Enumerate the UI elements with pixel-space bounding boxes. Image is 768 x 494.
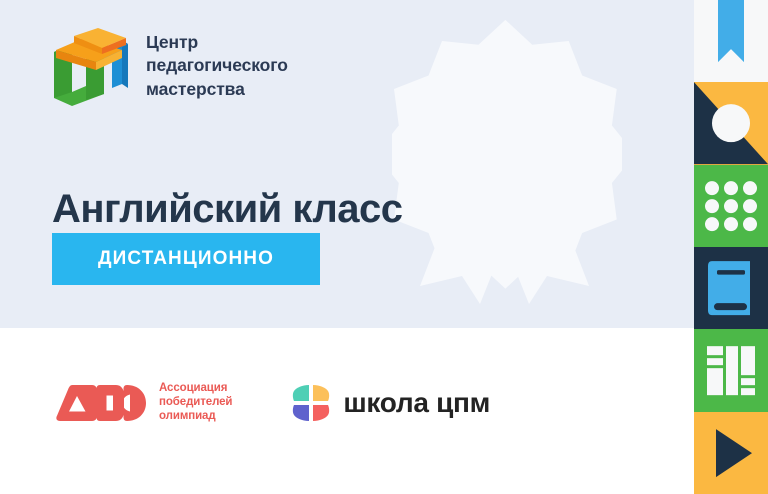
cpm-isometric-cube-logo (52, 26, 130, 106)
layout-blocks-icon (694, 329, 768, 411)
footer-section: Ассоциация победителей олимпиад школа цп… (0, 328, 694, 494)
strip-tile-book[interactable] (694, 247, 768, 329)
page-title: Английский класс (52, 187, 403, 231)
partner-apo-name: Ассоциация победителей олимпиад (159, 382, 232, 423)
promo-banner: Центр педагогического мастерства Английс… (0, 0, 768, 494)
award-rosette-icon (392, 14, 622, 314)
brand-name: Центр педагогического мастерства (146, 31, 288, 101)
partner-shkola-name: школа цпм (343, 387, 490, 419)
strip-tile-medal[interactable] (694, 82, 768, 164)
strip-tile-bookmark[interactable] (694, 0, 768, 82)
icon-strip (694, 0, 768, 494)
strip-tile-play[interactable] (694, 412, 768, 494)
partner-apo[interactable]: Ассоциация победителей олимпиад (56, 380, 232, 426)
partner-logos: Ассоциация победителей олимпиад школа цп… (56, 380, 490, 426)
strip-tile-layout[interactable] (694, 329, 768, 411)
pinwheel-logo (290, 382, 332, 424)
partner-shkola-cpm[interactable]: школа цпм (290, 382, 490, 424)
hero-section: Центр педагогического мастерства Английс… (0, 0, 694, 328)
format-badge[interactable]: Дистанционно (52, 233, 320, 285)
brand-lockup: Центр педагогического мастерства (52, 26, 288, 106)
play-icon (694, 412, 768, 494)
bookmark-icon (694, 0, 768, 82)
dot-grid-icon (694, 165, 768, 247)
strip-tile-grid[interactable] (694, 165, 768, 247)
apo-shapes-logo (56, 380, 148, 426)
book-icon (694, 247, 768, 329)
circle-diagonal-icon (694, 82, 768, 164)
